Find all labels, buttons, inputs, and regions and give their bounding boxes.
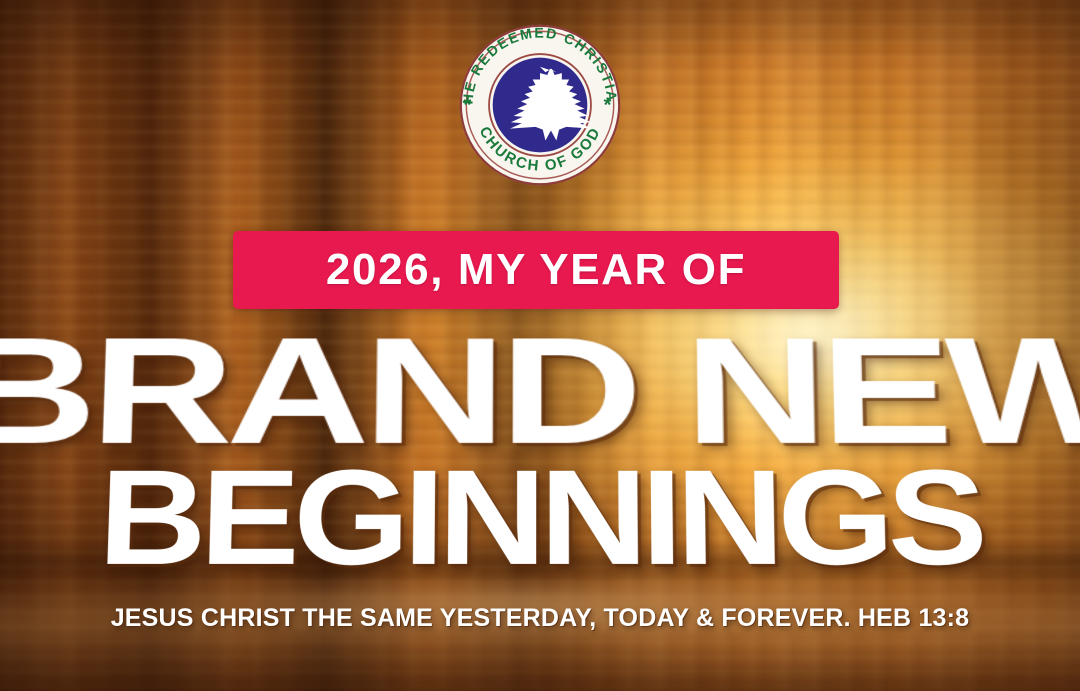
logo-star-left-icon: *	[464, 94, 472, 116]
headline-line-1-wrap: BRAND NEW	[0, 326, 1080, 457]
headline: BRAND NEW BEGINNINGS	[0, 326, 1080, 576]
year-banner: 2026, MY YEAR OF	[233, 231, 839, 309]
headline-line-2: BEGINNINGS	[97, 459, 982, 575]
rccg-logo: THE REDEEMED CHRISTIAN CHURCH OF GOD * *	[449, 14, 631, 196]
headline-line-2-wrap: BEGINNINGS	[0, 459, 1080, 576]
poster-content: THE REDEEMED CHRISTIAN CHURCH OF GOD * *…	[0, 0, 1080, 691]
logo-star-right-icon: *	[604, 94, 612, 116]
rccg-logo-svg: THE REDEEMED CHRISTIAN CHURCH OF GOD * *	[449, 14, 631, 196]
scripture-reference: JESUS CHRIST THE SAME YESTERDAY, TODAY &…	[0, 604, 1080, 633]
year-banner-text: 2026, MY YEAR OF	[326, 245, 746, 295]
headline-line-1: BRAND NEW	[0, 327, 1080, 457]
poster-canvas: THE REDEEMED CHRISTIAN CHURCH OF GOD * *…	[0, 0, 1080, 691]
